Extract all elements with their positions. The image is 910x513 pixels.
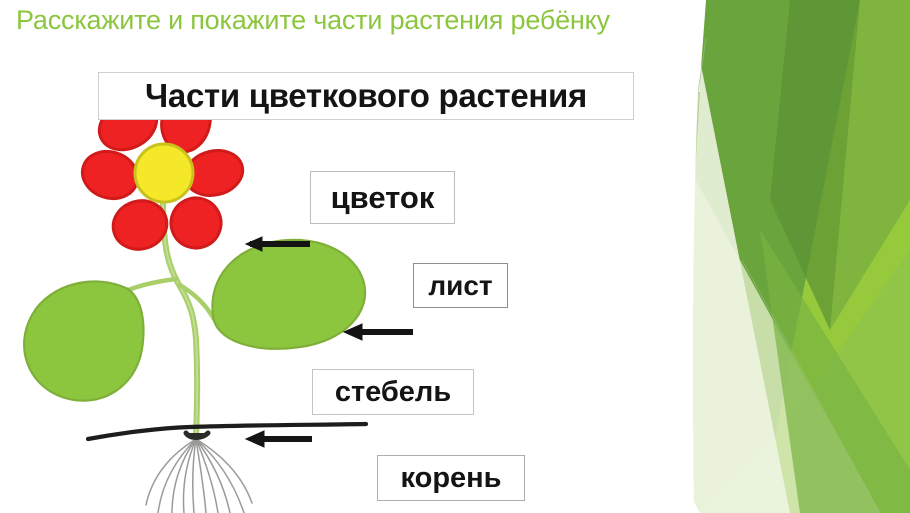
facet-shape-bright-right bbox=[700, 0, 910, 513]
label-flower: цветок bbox=[310, 171, 455, 224]
label-stem: стебель bbox=[312, 369, 474, 415]
facet-shape-olive-mid bbox=[770, 0, 880, 330]
slide-title: Расскажите и покажите части растения реб… bbox=[16, 2, 846, 38]
label-root: корень bbox=[377, 455, 525, 501]
diagram-heading: Части цветкового растения bbox=[98, 72, 634, 120]
facet-hairline-2 bbox=[742, 260, 880, 513]
presentation-slide: Расскажите и покажите части растения реб… bbox=[0, 0, 910, 513]
facet-shape-light-lower bbox=[700, 250, 910, 513]
label-leaf: лист bbox=[413, 263, 508, 308]
root-crown bbox=[186, 433, 208, 438]
facet-shape-green-sliver bbox=[760, 230, 910, 513]
flower-center bbox=[135, 144, 193, 202]
facet-shape-mid-green bbox=[830, 0, 910, 330]
